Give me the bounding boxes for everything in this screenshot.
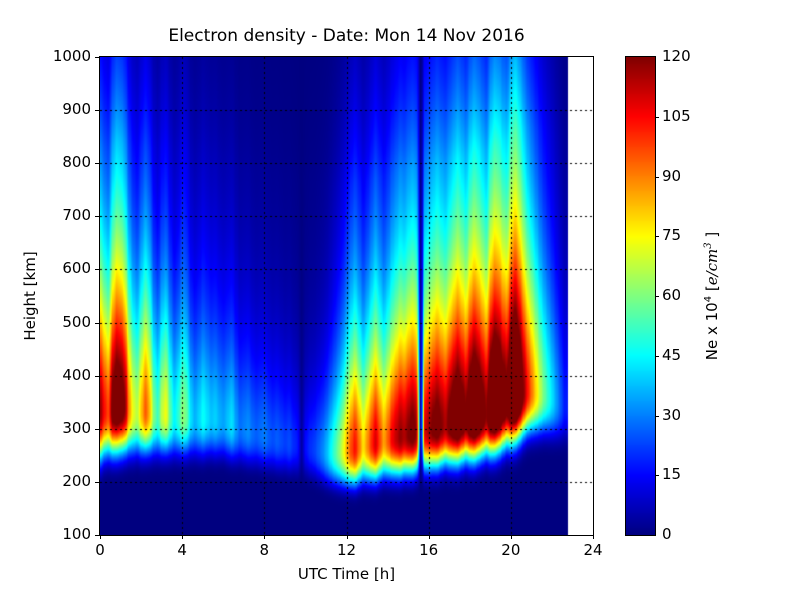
colorbar-tick-mark	[655, 416, 659, 417]
y-tick-mark	[95, 163, 100, 164]
y-tick-mark	[95, 482, 100, 483]
y-tick-mark	[95, 216, 100, 217]
y-tick-label: 500	[35, 315, 91, 330]
colorbar-tick-label: 15	[662, 467, 681, 482]
y-tick-mark	[95, 57, 100, 58]
colorbar-tick-mark	[655, 296, 659, 297]
x-tick-mark	[429, 535, 430, 539]
x-tick-label: 12	[322, 543, 372, 558]
x-tick-label: 16	[404, 543, 454, 558]
colorbar-unit-open: [	[703, 285, 721, 296]
y-tick-label: 600	[35, 261, 91, 276]
y-tick-mark	[95, 535, 100, 536]
colorbar-tick-mark	[655, 475, 659, 476]
x-tick-mark	[182, 535, 183, 539]
y-tick-label: 800	[35, 155, 91, 170]
colorbar-tick-label: 30	[662, 408, 681, 423]
colorbar-tick-label: 105	[662, 109, 691, 124]
colorbar-tick-label: 75	[662, 228, 681, 243]
y-tick-label: 100	[35, 527, 91, 542]
colorbar-label-prefix: Ne x 10	[703, 302, 721, 360]
colorbar-tick-label: 0	[662, 527, 672, 542]
colorbar-tick-label: 120	[662, 49, 691, 64]
colorbar-tick-label: 60	[662, 288, 681, 303]
x-tick-mark	[100, 535, 101, 539]
colorbar-tick-mark	[655, 117, 659, 118]
x-tick-label: 20	[486, 543, 536, 558]
colorbar-unit-exponent: 3	[703, 242, 714, 248]
x-tick-mark	[347, 535, 348, 539]
x-tick-label: 0	[75, 543, 125, 558]
colorbar-tick-label: 90	[662, 169, 681, 184]
heatmap-image	[100, 57, 593, 535]
colorbar	[625, 56, 656, 536]
heatmap-plot-area	[99, 56, 594, 536]
y-tick-label: 400	[35, 368, 91, 383]
x-tick-mark	[593, 535, 594, 539]
x-axis-label: UTC Time [h]	[99, 565, 594, 583]
x-tick-mark	[264, 535, 265, 539]
y-tick-label: 1000	[35, 49, 91, 64]
y-axis-label: Height [km]	[21, 251, 39, 340]
colorbar-label: Ne x 104 [e/cm3 ]	[703, 232, 721, 361]
x-tick-mark	[511, 535, 512, 539]
y-tick-label: 700	[35, 208, 91, 223]
y-tick-mark	[95, 376, 100, 377]
colorbar-tick-mark	[655, 236, 659, 237]
figure-canvas: Electron density - Date: Mon 14 Nov 2016…	[0, 0, 800, 600]
y-tick-mark	[95, 269, 100, 270]
x-tick-label: 24	[568, 543, 618, 558]
y-tick-mark	[95, 110, 100, 111]
colorbar-tick-label: 45	[662, 348, 681, 363]
y-tick-label: 200	[35, 474, 91, 489]
colorbar-unit-close: ]	[703, 232, 721, 243]
colorbar-tick-mark	[655, 177, 659, 178]
colorbar-tick-mark	[655, 356, 659, 357]
page-title: Electron density - Date: Mon 14 Nov 2016	[99, 26, 594, 46]
colorbar-unit: e/cm	[703, 249, 721, 286]
colorbar-gradient	[626, 57, 655, 535]
colorbar-label-exponent: 4	[703, 296, 714, 302]
y-tick-label: 300	[35, 421, 91, 436]
x-tick-label: 8	[239, 543, 289, 558]
y-tick-label: 900	[35, 102, 91, 117]
y-tick-mark	[95, 429, 100, 430]
y-tick-mark	[95, 323, 100, 324]
x-tick-label: 4	[157, 543, 207, 558]
